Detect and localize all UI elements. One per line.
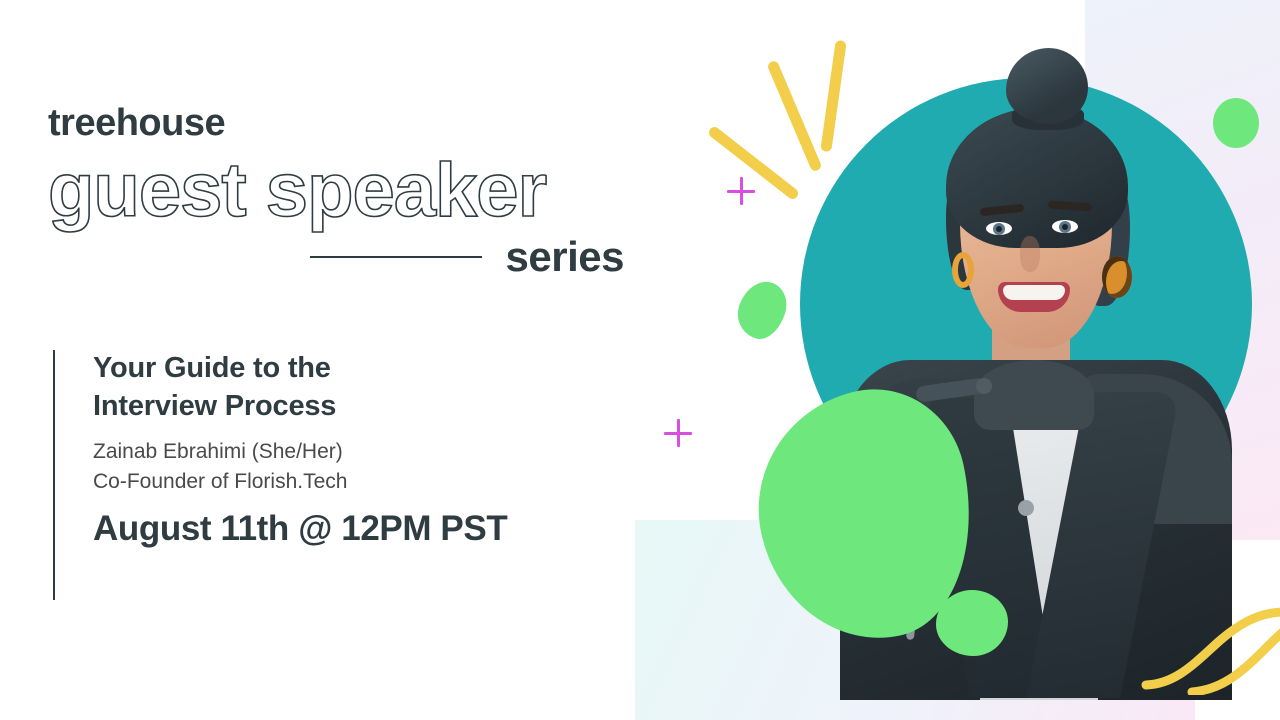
yellow-stroke-2-icon: [766, 60, 822, 173]
portrait-hair-bun: [1006, 48, 1088, 124]
portrait-earring-left: [952, 252, 974, 288]
series-row: series: [48, 236, 624, 278]
portrait-smile: [998, 282, 1070, 312]
green-blob-small-bottom-icon: [936, 590, 1008, 656]
brand-lockup: treehouse guest speaker series: [48, 104, 648, 278]
yellow-waves-icon: [1140, 580, 1280, 695]
portrait-eye-right: [1052, 220, 1078, 233]
portrait-collar: [974, 360, 1094, 430]
portrait-eye-left: [986, 222, 1012, 235]
speaker-role: Co-Founder of Florish.Tech: [93, 467, 507, 497]
brand-wordmark: treehouse: [48, 104, 648, 142]
event-datetime: August 11th @ 12PM PST: [93, 511, 507, 546]
portrait-nose: [1020, 236, 1040, 272]
series-label: series: [506, 236, 624, 278]
series-headline: guest speaker: [48, 150, 648, 232]
speaker-name: Zainab Ebrahimi (She/Her): [93, 437, 507, 467]
event-title: Your Guide to the Interview Process: [93, 350, 507, 425]
portrait-earring-right: [1102, 256, 1132, 298]
promo-slide: treehouse guest speaker series Your Guid…: [0, 0, 1280, 720]
portrait-jacket-stud: [1018, 500, 1034, 516]
magenta-plus-upper-icon: [727, 177, 755, 205]
event-details: Your Guide to the Interview Process Zain…: [53, 350, 507, 600]
portrait-epaulet-button: [976, 378, 992, 394]
green-blob-small-left-icon: [731, 275, 793, 344]
magenta-plus-lower-icon: [664, 419, 692, 447]
series-divider: [310, 256, 482, 258]
